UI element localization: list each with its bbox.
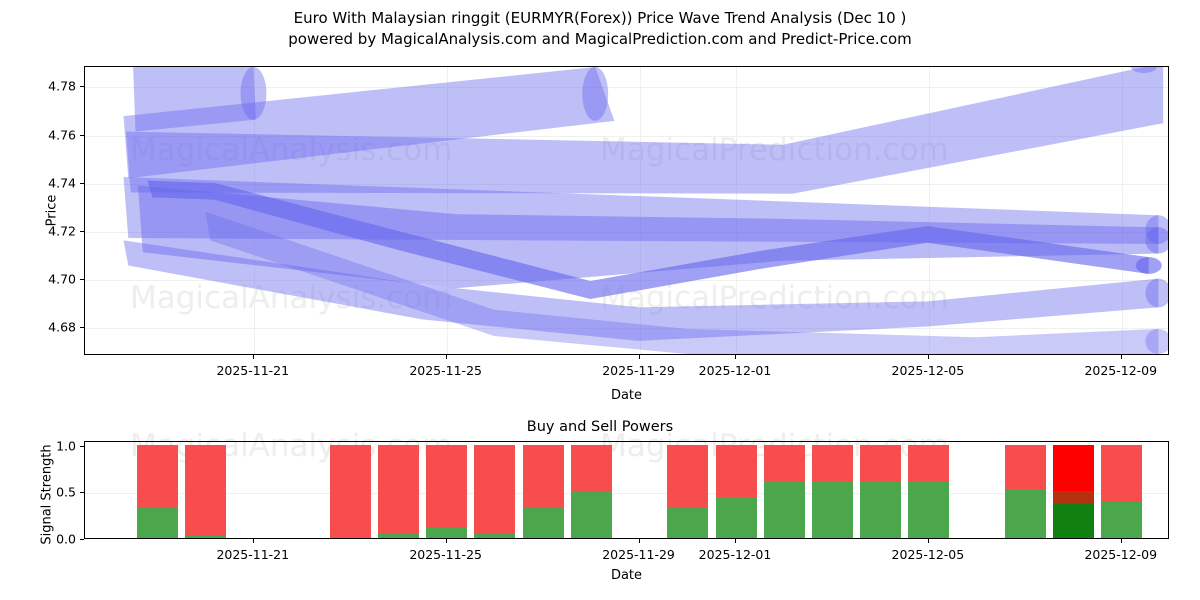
buy-power-segment <box>571 491 612 538</box>
price-x-tick-mark <box>1121 355 1122 359</box>
power-x-tick-mark <box>735 539 736 543</box>
sell-power-segment <box>667 445 708 508</box>
price-x-tick-mark <box>928 355 929 359</box>
price-x-tick-label: 2025-11-21 <box>216 363 289 378</box>
power-y-tick-label: 0.5 <box>56 485 76 500</box>
buy-power-segment <box>716 497 757 538</box>
power-bar[interactable] <box>185 445 226 538</box>
price-y-tick-label: 4.70 <box>48 272 76 287</box>
power-y-tick-label: 1.0 <box>56 438 76 453</box>
buy-power-segment <box>1101 502 1142 538</box>
power-bar[interactable] <box>716 445 757 538</box>
buy-power-segment <box>474 533 515 538</box>
power-bar[interactable] <box>764 445 805 538</box>
power-y-tick-mark <box>80 539 84 540</box>
price-x-tick-mark <box>735 355 736 359</box>
power-y-axis-label: Signal Strength <box>40 415 55 575</box>
power-x-tick-mark <box>253 539 254 543</box>
buy-power-segment <box>426 527 467 538</box>
power-x-tick-label: 2025-12-09 <box>1084 547 1157 562</box>
price-x-tick-label: 2025-12-05 <box>892 363 965 378</box>
price-x-tick-mark <box>639 355 640 359</box>
buy-power-segment <box>908 481 949 538</box>
buy-power-segment <box>378 533 419 538</box>
price-x-tick-mark <box>253 355 254 359</box>
power-x-tick-label: 2025-12-01 <box>699 547 772 562</box>
power-bar[interactable] <box>378 445 419 538</box>
sell-power-segment <box>908 445 949 481</box>
figure-title-line2: powered by MagicalAnalysis.com and Magic… <box>0 29 1200 50</box>
sell-power-segment <box>812 445 853 481</box>
buy-sell-powers-plot-area <box>84 441 1169 539</box>
sell-power-segment <box>1101 445 1142 502</box>
figure-title-line1: Euro With Malaysian ringgit (EURMYR(Fore… <box>294 9 907 27</box>
power-bar[interactable] <box>667 445 708 538</box>
price-y-tick-mark <box>80 183 84 184</box>
price-x-tick-label: 2025-11-29 <box>602 363 675 378</box>
power-bar[interactable] <box>860 445 901 538</box>
buy-power-segment <box>1005 489 1046 538</box>
buy-power-segment <box>523 507 564 538</box>
price-y-tick-label: 4.78 <box>48 79 76 94</box>
buy-power-segment <box>185 536 226 538</box>
price-y-tick-mark <box>80 327 84 328</box>
buy-power-segment <box>860 481 901 538</box>
buy-power-segment <box>137 507 178 538</box>
price-y-tick-mark <box>80 135 84 136</box>
price-x-tick-mark <box>446 355 447 359</box>
sell-power-segment <box>137 445 178 508</box>
power-y-tick-mark <box>80 492 84 493</box>
sell-power-segment <box>764 445 805 481</box>
sell-power-segment <box>571 445 612 492</box>
price-y-tick-mark <box>80 231 84 232</box>
figure-root: Euro With Malaysian ringgit (EURMYR(Fore… <box>0 0 1200 600</box>
sell-power-segment <box>860 445 901 481</box>
power-bar[interactable] <box>330 445 371 538</box>
power-chart-title: Buy and Sell Powers <box>0 419 1200 435</box>
price-x-tick-label: 2025-11-25 <box>409 363 482 378</box>
price-x-tick-label: 2025-12-01 <box>699 363 772 378</box>
power-y-tick-label: 0.0 <box>56 532 76 547</box>
power-x-tick-mark <box>1121 539 1122 543</box>
sell-power-segment <box>1053 445 1094 492</box>
sell-power-segment <box>716 445 757 497</box>
power-bar-highlighted[interactable] <box>1053 445 1094 538</box>
price-x-axis-label: Date <box>84 388 1169 403</box>
sell-power-segment <box>378 445 419 534</box>
power-x-tick-label: 2025-11-21 <box>216 547 289 562</box>
power-bar[interactable] <box>1005 445 1046 538</box>
price-y-tick-label: 4.76 <box>48 127 76 142</box>
power-bar[interactable] <box>571 445 612 538</box>
power-bar[interactable] <box>1101 445 1142 538</box>
sell-power-segment <box>523 445 564 508</box>
buy-power-segment <box>764 481 805 538</box>
power-x-axis-label: Date <box>84 568 1169 583</box>
power-bar[interactable] <box>137 445 178 538</box>
sell-power-segment <box>330 445 371 538</box>
power-y-tick-mark <box>80 446 84 447</box>
sell-power-segment <box>1005 445 1046 489</box>
sell-power-segment <box>426 445 467 527</box>
power-x-tick-label: 2025-11-29 <box>602 547 675 562</box>
power-x-tick-label: 2025-12-05 <box>892 547 965 562</box>
sell-power-segment <box>185 445 226 536</box>
price-y-tick-label: 4.68 <box>48 320 76 335</box>
band-core-dark-cap <box>1136 257 1162 274</box>
power-x-tick-mark <box>928 539 929 543</box>
sell-power-segment <box>474 445 515 534</box>
power-x-tick-label: 2025-11-25 <box>409 547 482 562</box>
power-bar[interactable] <box>812 445 853 538</box>
price-wave-bands <box>85 67 1168 354</box>
power-bar[interactable] <box>474 445 515 538</box>
transition-power-segment <box>1053 491 1094 502</box>
price-y-tick-mark <box>80 86 84 87</box>
price-y-axis-label: Price <box>45 151 60 271</box>
buy-power-segment <box>812 481 853 538</box>
power-bar[interactable] <box>426 445 467 538</box>
price-y-tick-mark <box>80 279 84 280</box>
power-bar[interactable] <box>523 445 564 538</box>
band-upper-2-cap <box>582 67 608 121</box>
power-x-tick-mark <box>639 539 640 543</box>
price-wave-plot-area <box>84 66 1169 355</box>
power-bar[interactable] <box>908 445 949 538</box>
buy-power-segment <box>667 507 708 538</box>
figure-title: Euro With Malaysian ringgit (EURMYR(Fore… <box>0 8 1200 50</box>
price-x-tick-label: 2025-12-09 <box>1084 363 1157 378</box>
buy-power-segment <box>1053 503 1094 538</box>
power-x-tick-mark <box>446 539 447 543</box>
